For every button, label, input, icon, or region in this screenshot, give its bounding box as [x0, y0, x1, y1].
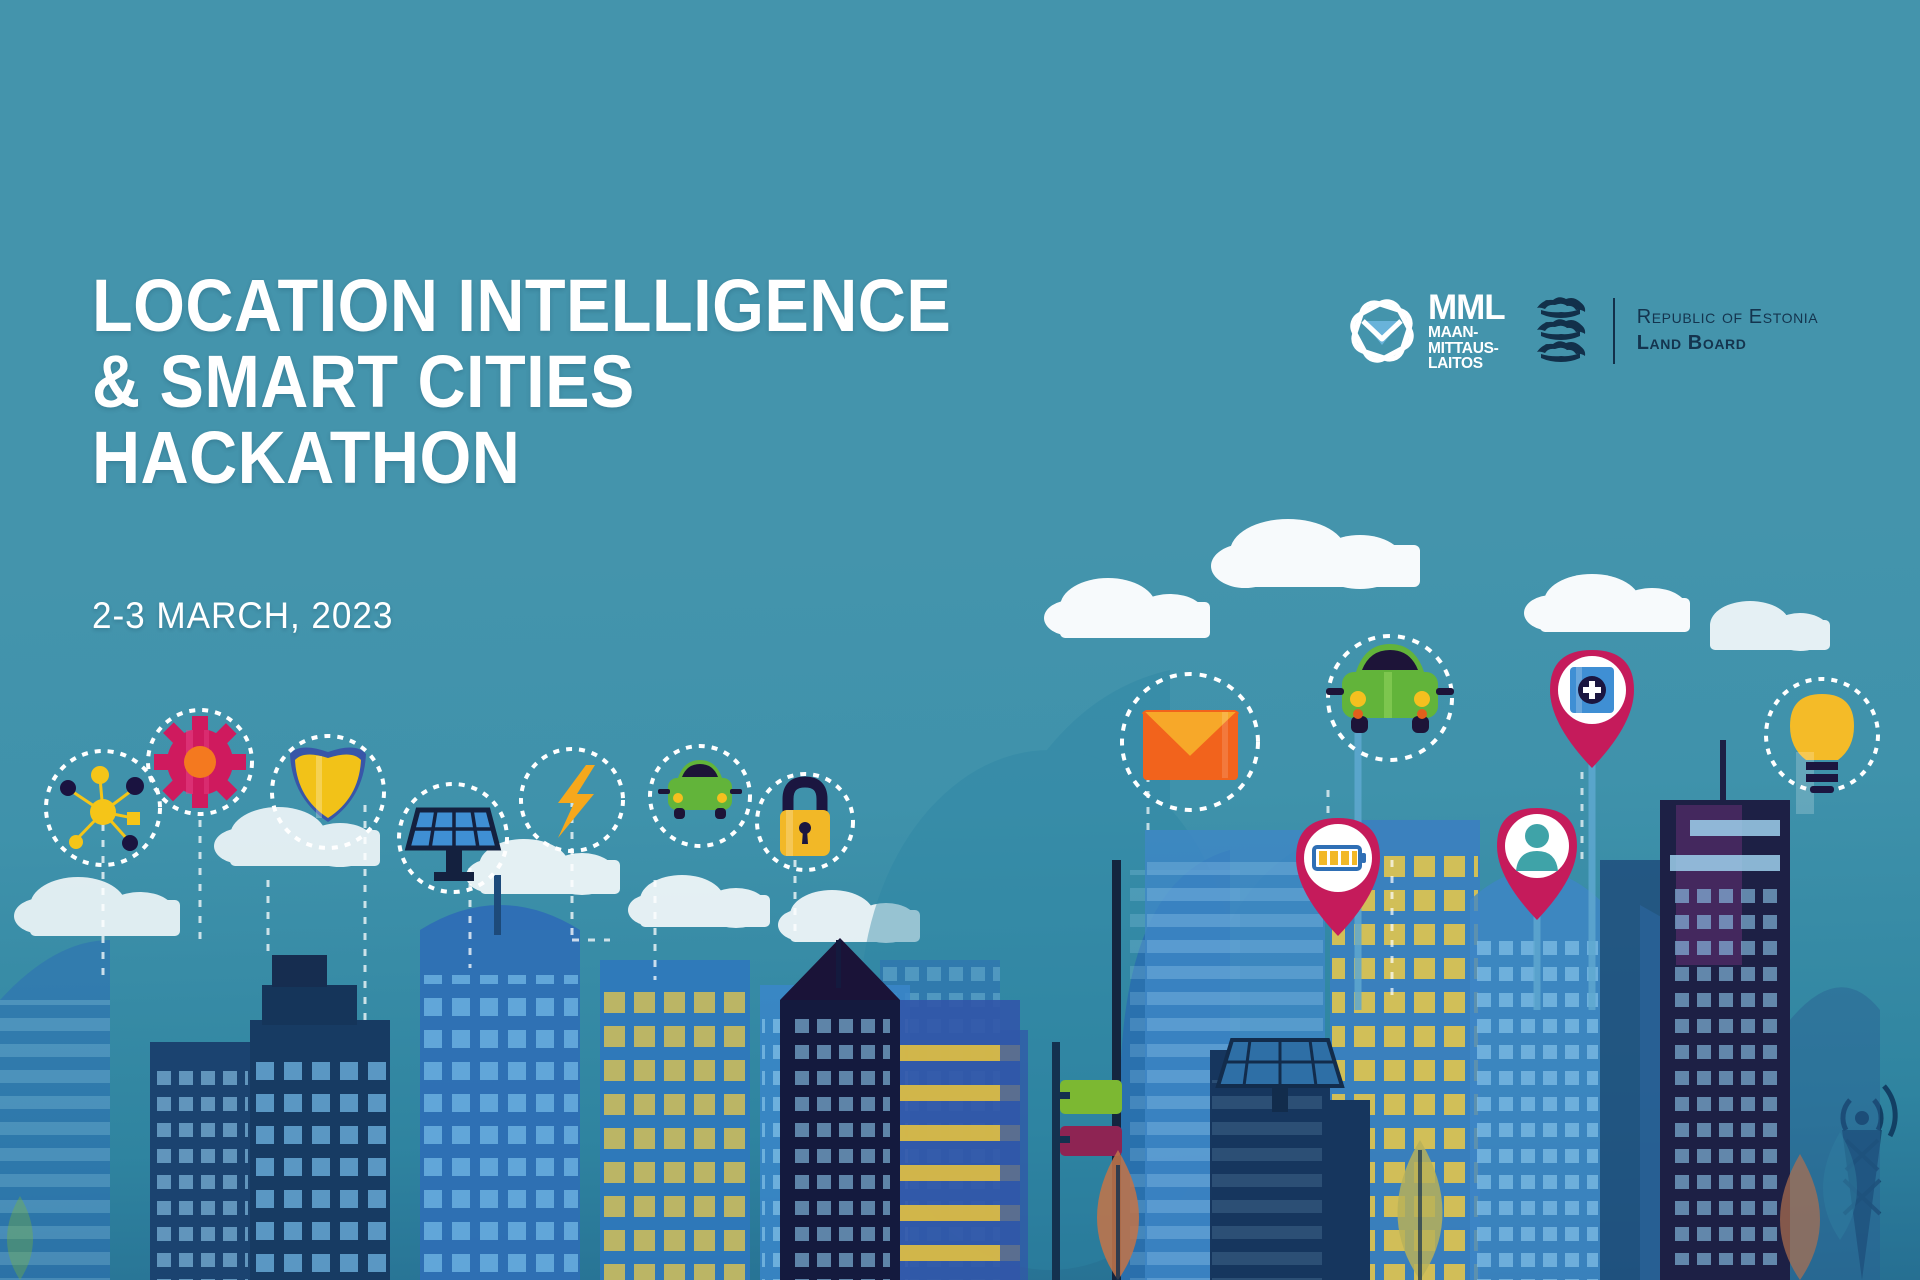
gear-icon[interactable]	[148, 710, 252, 814]
hackathon-poster: LOCATION INTELLIGENCE & SMART CITIES HAC…	[0, 0, 1920, 1280]
shield-icon[interactable]	[272, 736, 384, 848]
car-icon[interactable]	[1326, 636, 1454, 760]
lock-icon[interactable]	[757, 774, 853, 870]
solar-panel-icon[interactable]	[399, 784, 507, 892]
network-nodes-icon[interactable]	[46, 751, 160, 865]
person-pin[interactable]	[1497, 808, 1577, 920]
lightning-bolt-icon[interactable]	[521, 749, 623, 851]
lightbulb-icon[interactable]	[1766, 679, 1878, 814]
icon-bubbles-layer	[0, 0, 1920, 1280]
battery-pin[interactable]	[1296, 818, 1380, 936]
envelope-icon[interactable]	[1122, 674, 1258, 810]
car-icon[interactable]	[650, 746, 750, 846]
hospital-pin[interactable]	[1550, 650, 1634, 768]
